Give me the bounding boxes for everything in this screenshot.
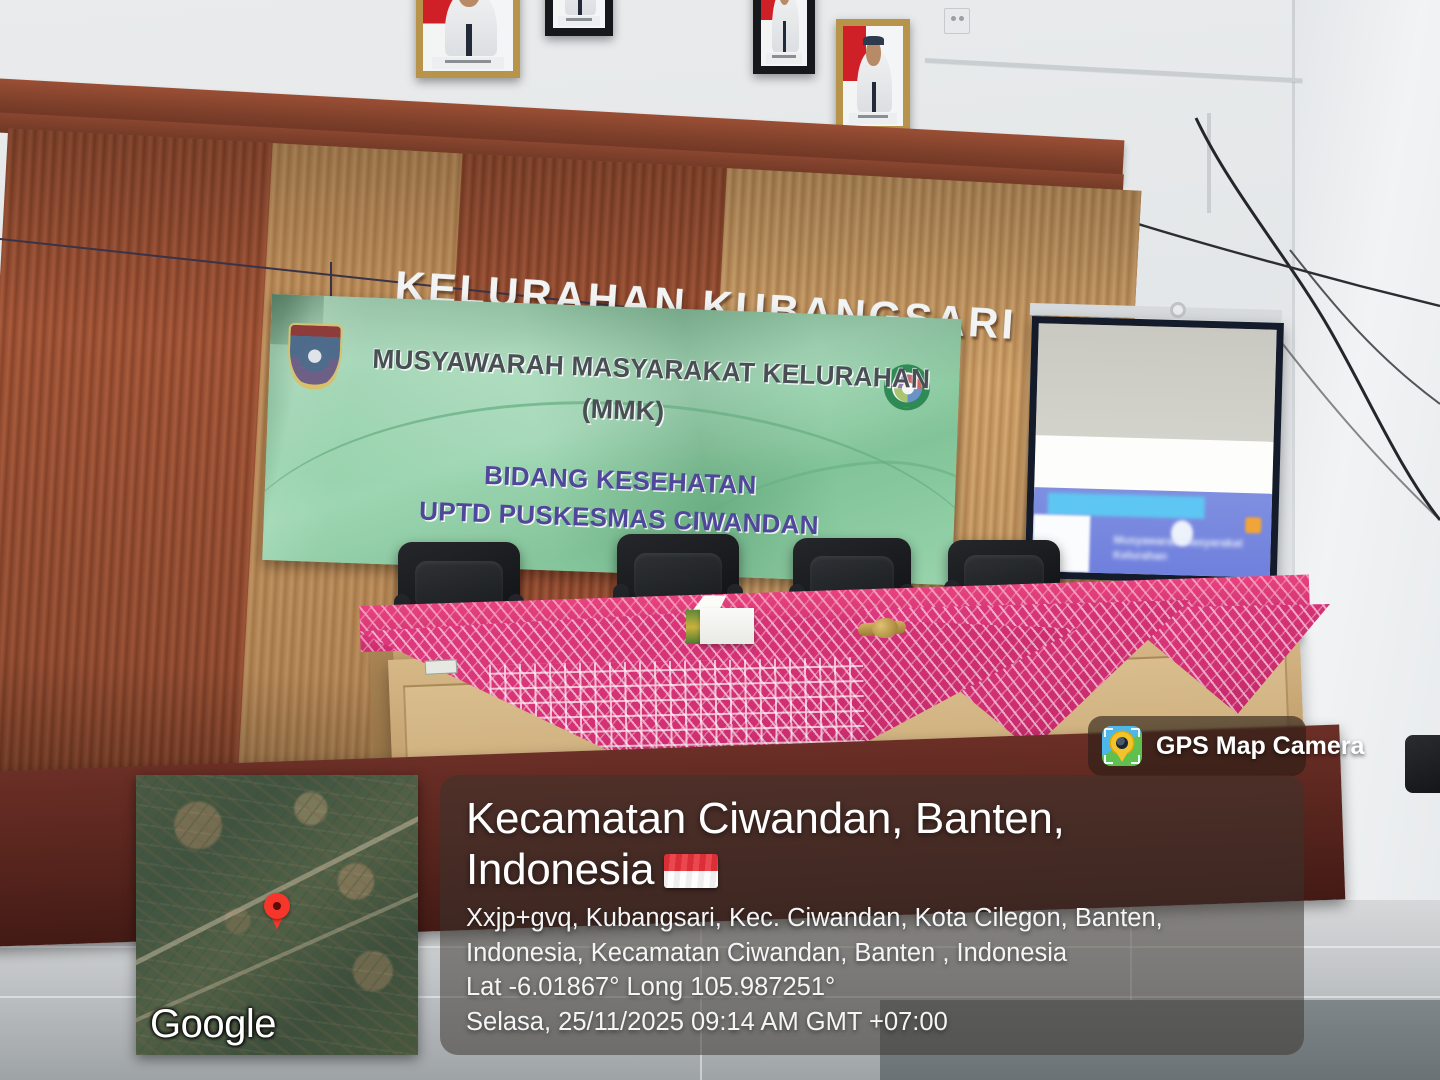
- map-thumbnail[interactable]: Google: [136, 775, 418, 1055]
- floor-speaker: [1405, 735, 1440, 793]
- portrait-nameplate: [766, 53, 803, 64]
- portrait-nameplate: [849, 113, 897, 124]
- official-portrait: [753, 0, 815, 74]
- portrait-tie: [783, 21, 786, 52]
- location-info-overlay: Kecamatan Ciwandan, Banten, Indonesia Xx…: [440, 775, 1304, 1055]
- bracket-bottom-left-icon: [1104, 755, 1113, 764]
- map-pin-icon: [264, 893, 290, 919]
- small-device-on-table: [425, 659, 458, 675]
- crest-ribbon: [290, 367, 339, 391]
- coordinates: Lat -6.01867° Long 105.987251°: [466, 970, 1304, 1005]
- portrait-tie: [466, 24, 472, 56]
- official-portrait: [836, 19, 910, 133]
- pin-tail: [1115, 750, 1129, 762]
- bracket-top-left-icon: [1104, 728, 1113, 737]
- bracket-top-right-icon: [1131, 728, 1140, 737]
- projector-screen: Musyawarah Masyarakat Kelurahan: [1025, 316, 1284, 585]
- location-title-line-1: Kecamatan Ciwandan, Banten,: [466, 794, 1065, 843]
- portrait-nameplate: [558, 16, 600, 26]
- location-title-line-2: Indonesia: [466, 845, 654, 894]
- location-details: Xxjp+gvq, Kubangsari, Kec. Ciwandan, Kot…: [466, 901, 1304, 1040]
- location-title: Kecamatan Ciwandan, Banten, Indonesia: [466, 793, 1304, 895]
- projector-screen-knob: [1170, 302, 1186, 318]
- google-watermark: Google: [150, 1002, 276, 1047]
- portrait-tie: [872, 82, 876, 112]
- gps-map-camera-badge: GPS Map Camera: [1088, 716, 1306, 776]
- curtain-rail-drop: [1207, 113, 1211, 213]
- portrait-nameplate: [432, 57, 504, 69]
- timestamp: Selasa, 25/11/2025 09:14 AM GMT +07:00: [466, 1005, 1304, 1040]
- bracket-bottom-right-icon: [1131, 755, 1140, 764]
- address-line-2: Indonesia, Kecamatan Ciwandan, Banten , …: [466, 936, 1304, 971]
- indonesia-flag-icon: [664, 854, 718, 888]
- slide-accent-square: [1245, 518, 1261, 534]
- electrical-outlet: [944, 8, 970, 34]
- photo-screenshot: KELURAHAN KUBANGSARI MUSYAWARAH MASYARAK…: [0, 0, 1440, 1080]
- gps-badge-label: GPS Map Camera: [1156, 732, 1364, 761]
- official-portrait: [545, 0, 613, 36]
- gps-camera-icon: [1102, 726, 1142, 766]
- address-line-1: Xxjp+gvq, Kubangsari, Kec. Ciwandan, Kot…: [466, 901, 1304, 936]
- portrait-tie: [578, 0, 582, 15]
- portrait-cap: [863, 36, 883, 45]
- tissue-box: [700, 608, 754, 644]
- screen-blank-area: [1036, 323, 1277, 441]
- cilegon-city-crest-icon: [287, 323, 343, 389]
- slide-text: Musyawarah Masyarakat Kelurahan: [1113, 534, 1247, 567]
- official-portrait: [416, 0, 520, 78]
